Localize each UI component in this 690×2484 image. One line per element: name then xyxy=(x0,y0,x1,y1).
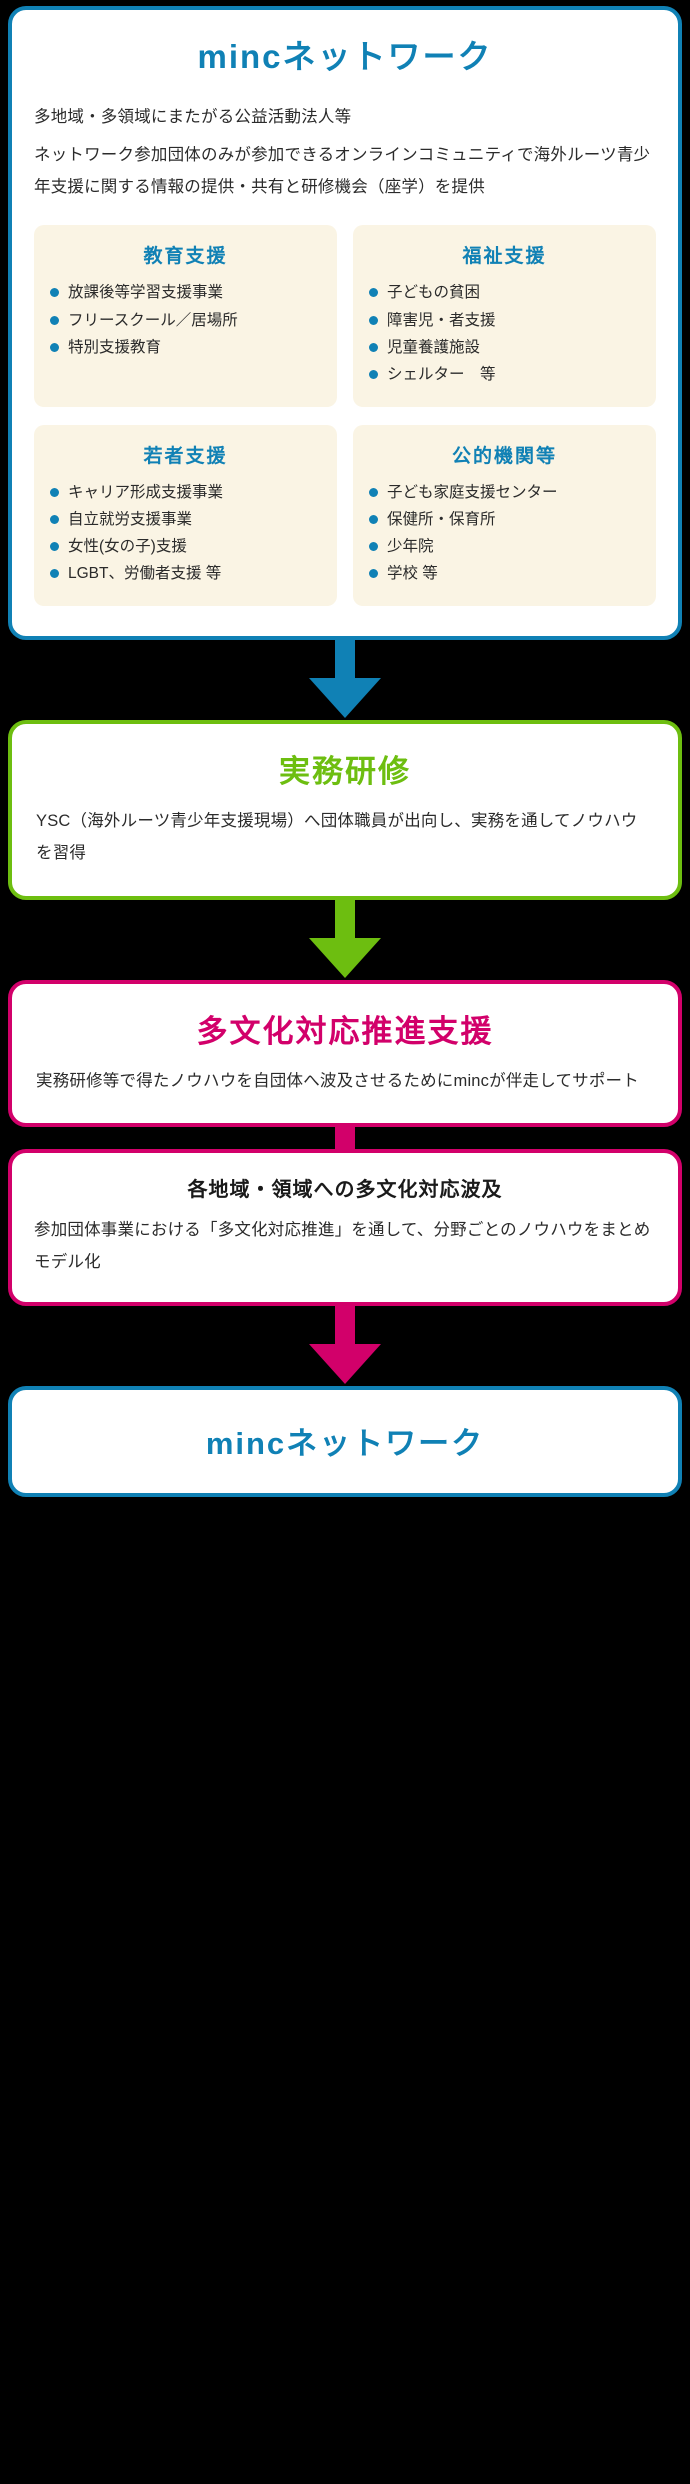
training-body: YSC（海外ルーツ青少年支援現場）へ団体職員が出向し、実務を通してノウハウを習得 xyxy=(36,805,654,869)
category-box-public: 公的機関等 子ども家庭支援センター 保健所・保育所 少年院 学校 等 xyxy=(353,425,656,606)
category-title: 福祉支援 xyxy=(367,241,642,268)
training-card: 実務研修 YSC（海外ルーツ青少年支援現場）へ団体職員が出向し、実務を通してノウ… xyxy=(8,720,682,899)
category-box-welfare: 福祉支援 子どもの貧困 障害児・者支援 児童養護施設 シェルター 等 xyxy=(353,225,656,406)
final-network-card: mincネットワーク xyxy=(8,1386,682,1497)
list-item: シェルター 等 xyxy=(367,362,642,387)
promotion-card: 多文化対応推進支援 実務研修等で得たノウハウを自団体へ波及させるためにmincが… xyxy=(8,980,682,1127)
minc-network-card: mincネットワーク 多地域・多領域にまたがる公益活動法人等 ネットワーク参加団… xyxy=(8,6,682,640)
category-grid: 教育支援 放課後等学習支援事業 フリースクール／居場所 特別支援教育 福祉支援 … xyxy=(34,225,656,606)
category-title: 教育支援 xyxy=(48,241,323,268)
list-item: 少年院 xyxy=(367,534,642,559)
list-item: 障害児・者支援 xyxy=(367,308,642,333)
promotion-body: 実務研修等で得たノウハウを自団体へ波及させるためにmincが伴走してサポート xyxy=(36,1065,654,1097)
list-item: キャリア形成支援事業 xyxy=(48,480,323,505)
category-list: 放課後等学習支援事業 フリースクール／居場所 特別支援教育 xyxy=(48,280,323,359)
ripple-card: 各地域・領域への多文化対応波及 参加団体事業における「多文化対応推進」を通して、… xyxy=(8,1149,682,1306)
network-lead-line1: 多地域・多領域にまたがる公益活動法人等 xyxy=(34,101,656,133)
list-item: 保健所・保育所 xyxy=(367,507,642,532)
ripple-body: 参加団体事業における「多文化対応推進」を通して、分野ごとのノウハウをまとめモデル… xyxy=(34,1214,656,1278)
list-item: 放課後等学習支援事業 xyxy=(48,280,323,305)
category-list: 子ども家庭支援センター 保健所・保育所 少年院 学校 等 xyxy=(367,480,642,586)
final-network-title: mincネットワーク xyxy=(32,1418,658,1463)
list-item: 自立就労支援事業 xyxy=(48,507,323,532)
category-list: キャリア形成支援事業 自立就労支援事業 女性(女の子)支援 LGBT、労働者支援… xyxy=(48,480,323,586)
arrow-down-green xyxy=(0,900,690,980)
list-item: LGBT、労働者支援 等 xyxy=(48,561,323,586)
list-item: 特別支援教育 xyxy=(48,335,323,360)
category-list: 子どもの貧困 障害児・者支援 児童養護施設 シェルター 等 xyxy=(367,280,642,386)
list-item: 女性(女の子)支援 xyxy=(48,534,323,559)
network-title: mincネットワーク xyxy=(34,36,656,79)
list-item: 児童養護施設 xyxy=(367,335,642,360)
list-item: 学校 等 xyxy=(367,561,642,586)
arrow-down-blue xyxy=(0,640,690,720)
list-item: 子どもの貧困 xyxy=(367,280,642,305)
network-lead: 多地域・多領域にまたがる公益活動法人等 ネットワーク参加団体のみが参加できるオン… xyxy=(34,101,656,204)
list-item: フリースクール／居場所 xyxy=(48,308,323,333)
training-title: 実務研修 xyxy=(36,746,654,791)
category-box-youth: 若者支援 キャリア形成支援事業 自立就労支援事業 女性(女の子)支援 LGBT、… xyxy=(34,425,337,606)
arrow-down-magenta xyxy=(0,1306,690,1386)
ripple-title: 各地域・領域への多文化対応波及 xyxy=(34,1173,656,1202)
promotion-title: 多文化対応推進支援 xyxy=(36,1006,654,1051)
network-lead-line2: ネットワーク参加団体のみが参加できるオンラインコミュニティで海外ルーツ青少年支援… xyxy=(34,139,656,203)
category-box-education: 教育支援 放課後等学習支援事業 フリースクール／居場所 特別支援教育 xyxy=(34,225,337,406)
connector-line-magenta xyxy=(0,1127,690,1149)
category-title: 若者支援 xyxy=(48,441,323,468)
list-item: 子ども家庭支援センター xyxy=(367,480,642,505)
category-title: 公的機関等 xyxy=(367,441,642,468)
